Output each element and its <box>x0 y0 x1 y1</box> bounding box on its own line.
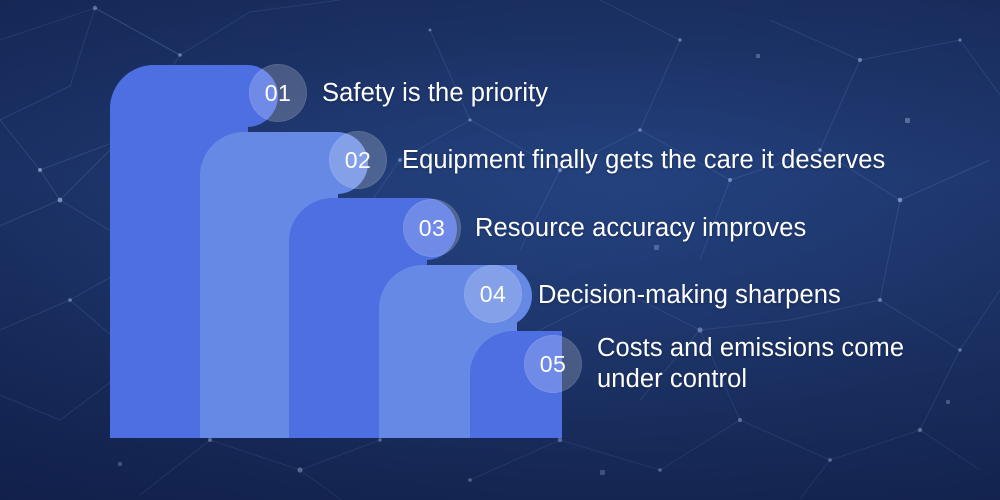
step-number-04: 04 <box>480 281 507 308</box>
step-number-badge-03[interactable]: 03 <box>403 199 461 257</box>
step-number-badge-05[interactable]: 05 <box>524 335 582 393</box>
step-number-badge-02[interactable]: 02 <box>329 131 387 189</box>
infographic-canvas: 01 Safety is the priority 02 Equipment f… <box>0 0 1000 500</box>
step-label-02: Equipment finally gets the care it deser… <box>402 145 885 176</box>
step-number-02: 02 <box>345 147 372 174</box>
step-number-badge-01[interactable]: 01 <box>249 64 307 122</box>
step-number-01: 01 <box>265 80 292 107</box>
step-number-03: 03 <box>419 215 446 242</box>
step-label-04: Decision-making sharpens <box>538 280 841 311</box>
staircase-bar-chart: 01 Safety is the priority 02 Equipment f… <box>0 0 1000 500</box>
step-number-badge-04[interactable]: 04 <box>464 265 522 323</box>
step-label-01: Safety is the priority <box>322 78 548 109</box>
step-label-05: Costs and emissions come under control <box>597 333 904 395</box>
step-number-05: 05 <box>540 351 567 378</box>
step-label-03: Resource accuracy improves <box>475 213 806 244</box>
